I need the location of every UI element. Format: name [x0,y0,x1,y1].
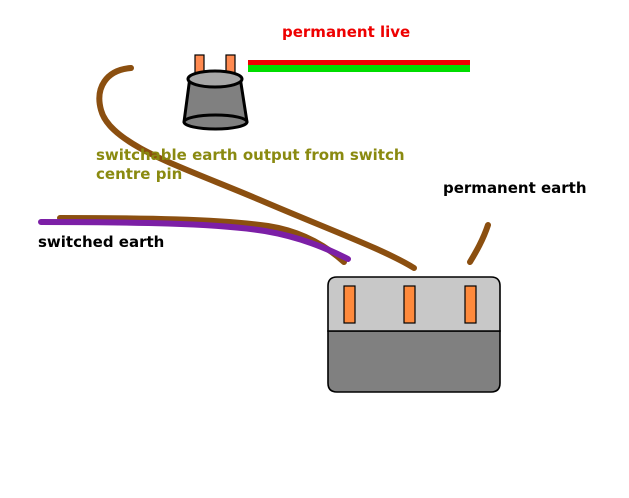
switchable-earth-label: switchable earth output from switch cent… [96,146,405,184]
permanent-live-label: permanent live [282,23,410,42]
permanent-earth-label: permanent earth [443,179,587,198]
lamp-holder-top-rim [188,71,242,87]
switch-terminal-centre[interactable] [404,286,415,323]
switched-earth-label: switched earth [38,233,164,252]
lamp-holder-bottom-rim [184,115,247,129]
switchable-earth-label-line1: switchable earth output from switch [96,146,405,165]
lamp-holder [184,55,247,129]
permanent-earth-wire [470,225,488,262]
switch-terminal-right[interactable] [465,286,476,323]
switch-box-lower-face [328,331,500,392]
permanent-live-wire [248,60,470,72]
switchable-earth-label-line2: centre pin [96,165,405,184]
switch-terminal-left[interactable] [344,286,355,323]
diagram-canvas: permanent live switchable earth output f… [0,0,629,498]
switch-box[interactable] [328,277,500,392]
